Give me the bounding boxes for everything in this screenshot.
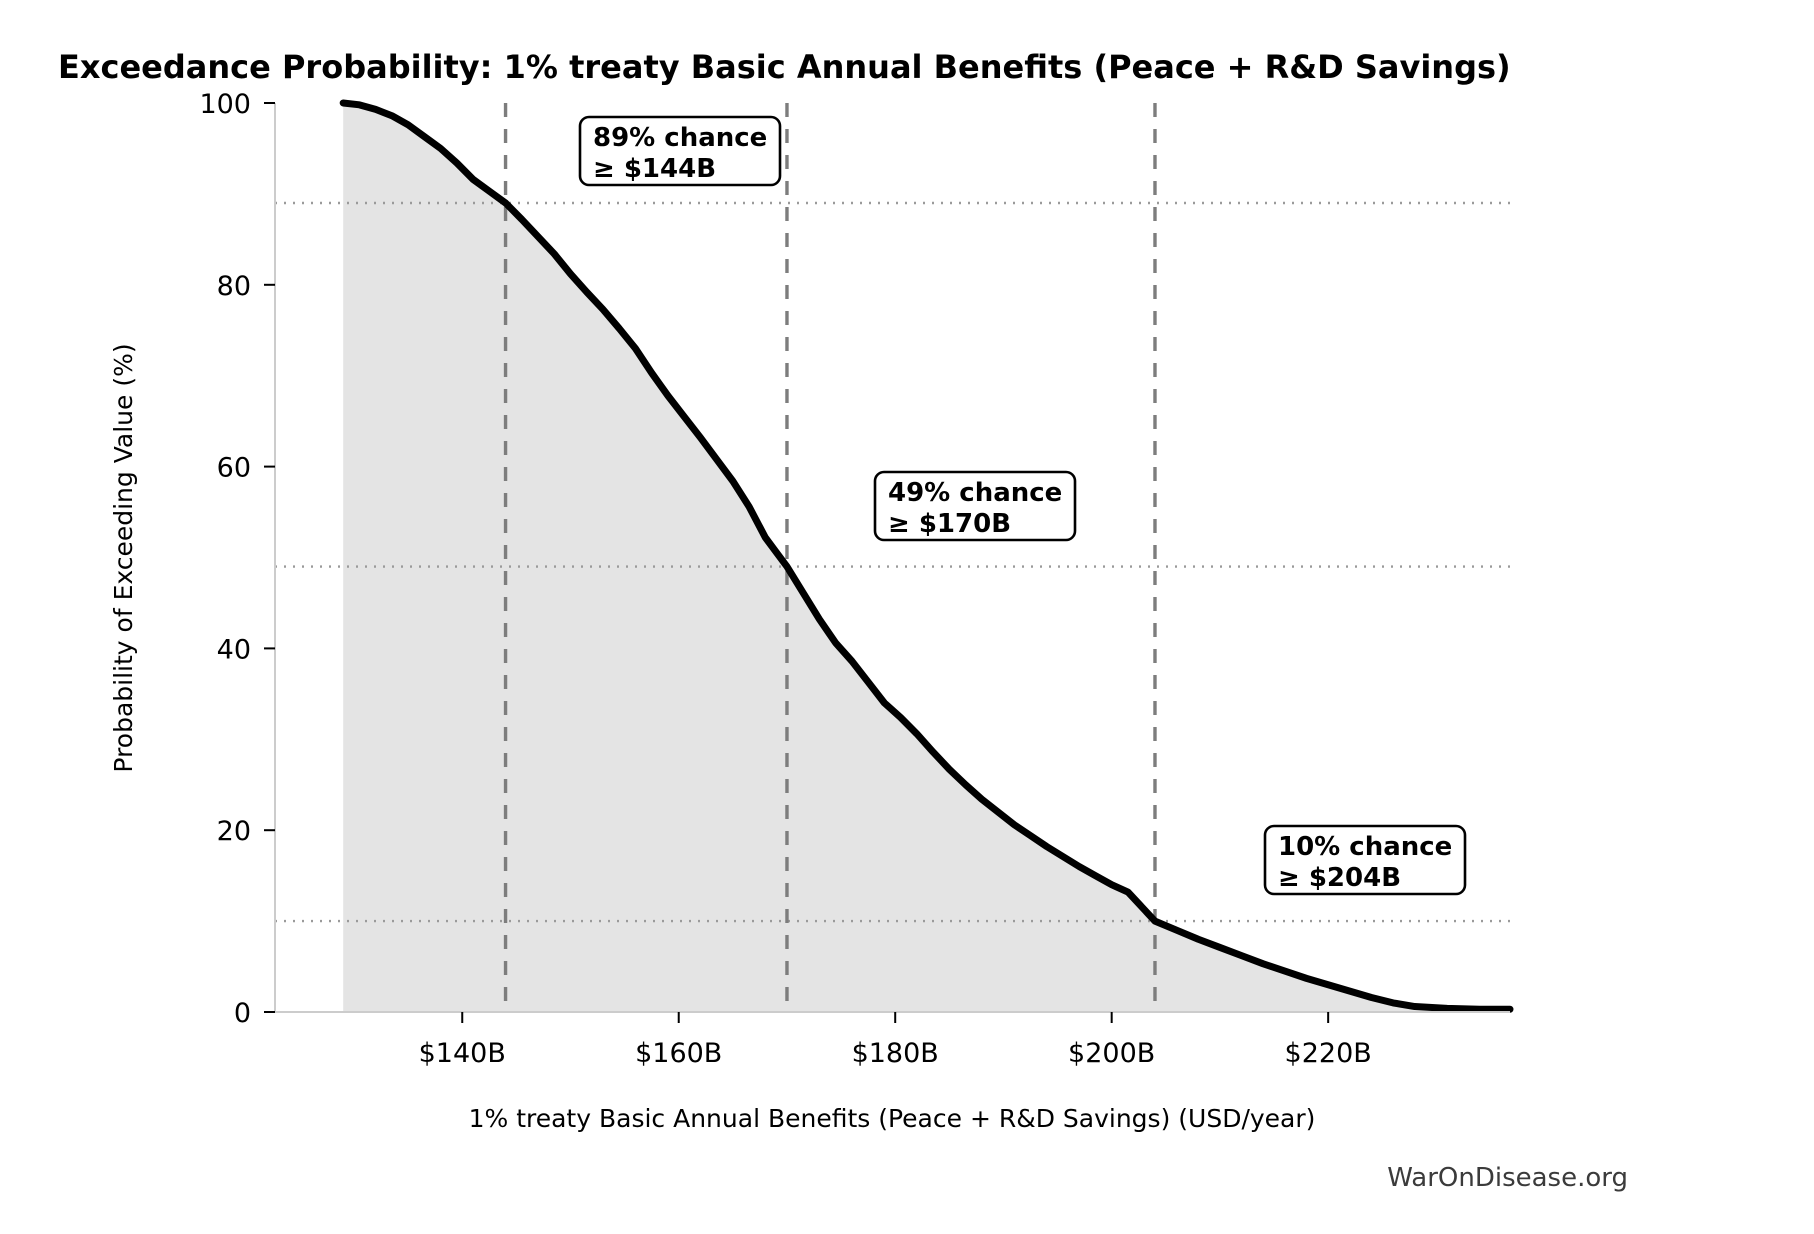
y-axis-label: Probability of Exceeding Value (%) xyxy=(109,343,138,772)
chart-title: Exceedance Probability: 1% treaty Basic … xyxy=(58,48,1511,86)
annotation-line2-p49: ≥ $170B xyxy=(888,509,1011,539)
annotation-line2-p89: ≥ $144B xyxy=(593,154,716,184)
x-tick-label: $200B xyxy=(1068,1038,1155,1069)
y-tick-label: 80 xyxy=(217,271,251,302)
annotation-line1-p49: 49% chance xyxy=(888,478,1062,508)
y-tick-label: 60 xyxy=(217,453,251,484)
x-tick-label: $140B xyxy=(419,1038,506,1069)
annotation-p49: 49% chance≥ $170B xyxy=(875,472,1075,540)
exceedance-probability-chart: Exceedance Probability: 1% treaty Basic … xyxy=(0,0,1814,1234)
x-tick-label: $220B xyxy=(1285,1038,1372,1069)
x-tick-label: $180B xyxy=(852,1038,939,1069)
y-tick-label: 20 xyxy=(217,816,251,847)
annotation-line1-p89: 89% chance xyxy=(593,123,767,153)
x-axis-label: 1% treaty Basic Annual Benefits (Peace +… xyxy=(469,1104,1316,1133)
annotation-p89: 89% chance≥ $144B xyxy=(580,117,780,185)
annotation-line2-p10: ≥ $204B xyxy=(1278,863,1401,893)
y-tick-label: 40 xyxy=(217,634,251,665)
annotation-p10: 10% chance≥ $204B xyxy=(1265,826,1465,894)
y-tick-label: 100 xyxy=(199,89,251,120)
annotation-line1-p10: 10% chance xyxy=(1278,832,1452,862)
footer-attribution: WarOnDisease.org xyxy=(1387,1163,1628,1193)
y-tick-label: 0 xyxy=(234,998,251,1029)
x-tick-label: $160B xyxy=(635,1038,722,1069)
